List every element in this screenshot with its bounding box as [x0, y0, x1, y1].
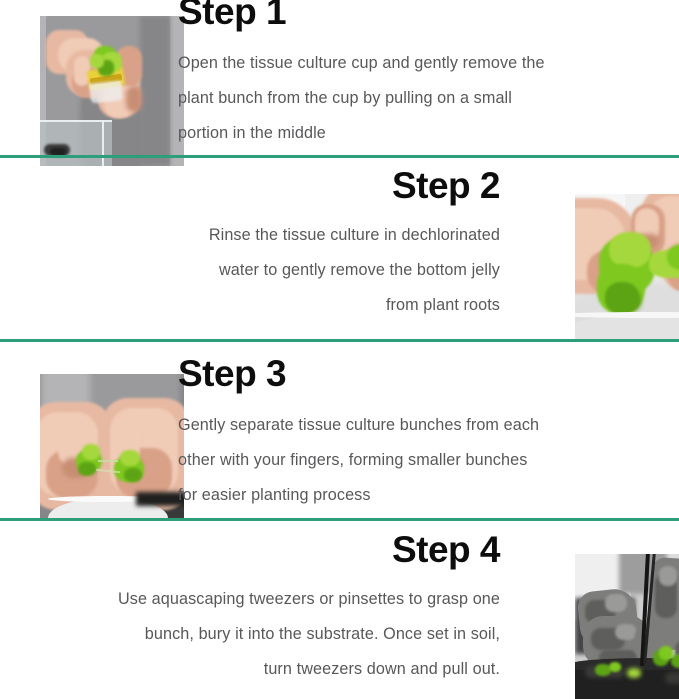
step-1-title: Step 1 — [178, 0, 618, 32]
step-1-text-column: Step 1 Open the tissue culture cup and g… — [178, 0, 618, 151]
step-2-body-line-2: water to gently remove the bottom jelly — [219, 261, 500, 279]
step-4-body: Use aquascaping tweezers or pinsettes to… — [40, 582, 500, 687]
step-3-body: Gently separate tissue culture bunches f… — [178, 408, 618, 513]
step-2-body: Rinse the tissue culture in dechlorinate… — [140, 218, 500, 323]
step-4-body-line-3: turn tweezers down and pull out. — [264, 660, 500, 678]
step-4-body-line-2: bunch, bury it into the substrate. Once … — [145, 625, 500, 643]
step-4-title: Step 4 — [40, 530, 500, 570]
step-1-photo — [40, 16, 184, 166]
step-2-photo — [575, 194, 679, 339]
step-4-text-column: Step 4 Use aquascaping tweezers or pinse… — [40, 530, 500, 687]
step-3-body-line-2: other with your fingers, forming smaller… — [178, 451, 527, 469]
step-1-body-line-1: Open the tissue culture cup and gently r… — [178, 54, 545, 72]
step-3-body-line-1: Gently separate tissue culture bunches f… — [178, 416, 539, 434]
step-2-title: Step 2 — [140, 166, 500, 206]
step-2-text-column: Step 2 Rinse the tissue culture in dechl… — [140, 166, 500, 323]
steps-infographic: Step 1 Open the tissue culture cup and g… — [0, 0, 679, 683]
step-2-body-line-1: Rinse the tissue culture in dechlorinate… — [209, 226, 500, 244]
step-3-body-line-3: for easier planting process — [178, 486, 371, 504]
step-1-body-line-3: portion in the middle — [178, 124, 326, 142]
step-4-body-line-1: Use aquascaping tweezers or pinsettes to… — [118, 590, 500, 608]
step-section-2: Step 2 Rinse the tissue culture in dechl… — [0, 158, 679, 339]
step-3-photo — [40, 374, 184, 519]
step-2-body-line-3: from plant roots — [386, 296, 500, 314]
step-section-4: Step 4 Use aquascaping tweezers or pinse… — [0, 521, 679, 683]
step-3-title: Step 3 — [178, 354, 618, 394]
step-3-text-column: Step 3 Gently separate tissue culture bu… — [178, 354, 618, 513]
step-1-body-line-2: plant bunch from the cup by pulling on a… — [178, 89, 512, 107]
step-section-3: Step 3 Gently separate tissue culture bu… — [0, 342, 679, 518]
step-1-body: Open the tissue culture cup and gently r… — [178, 46, 618, 151]
step-section-1: Step 1 Open the tissue culture cup and g… — [0, 0, 679, 155]
step-4-photo — [575, 554, 679, 699]
